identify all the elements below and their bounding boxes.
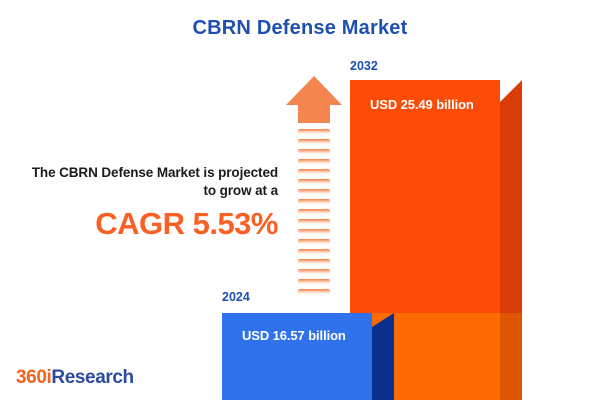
bar-2024-face: [222, 313, 372, 400]
page-title: CBRN Defense Market: [0, 17, 600, 40]
bar-2032-side-lower: [500, 313, 522, 400]
logo-text-360i: 360i: [16, 367, 51, 388]
bar-2024-side: [372, 313, 394, 400]
cagr-value: CAGR 5.53%: [26, 208, 278, 241]
infographic-canvas: CBRN Defense Market The CBRN Defense Mar…: [0, 0, 600, 400]
bar-2032-category-label: 2032: [350, 59, 378, 73]
logo-text-research: Research: [51, 367, 133, 388]
bar-2024: [222, 313, 394, 400]
bar-2024-category-label: 2024: [222, 290, 250, 304]
statement-block: The CBRN Defense Market is projected to …: [26, 164, 278, 240]
statement-text: The CBRN Defense Market is projected to …: [26, 164, 278, 201]
bar-2024-value-label: USD 16.57 billion: [242, 328, 346, 343]
up-arrow-icon: [286, 76, 342, 298]
brand-logo: 360iResearch: [16, 367, 134, 389]
bar-2032-value-label: USD 25.49 billion: [370, 97, 474, 112]
